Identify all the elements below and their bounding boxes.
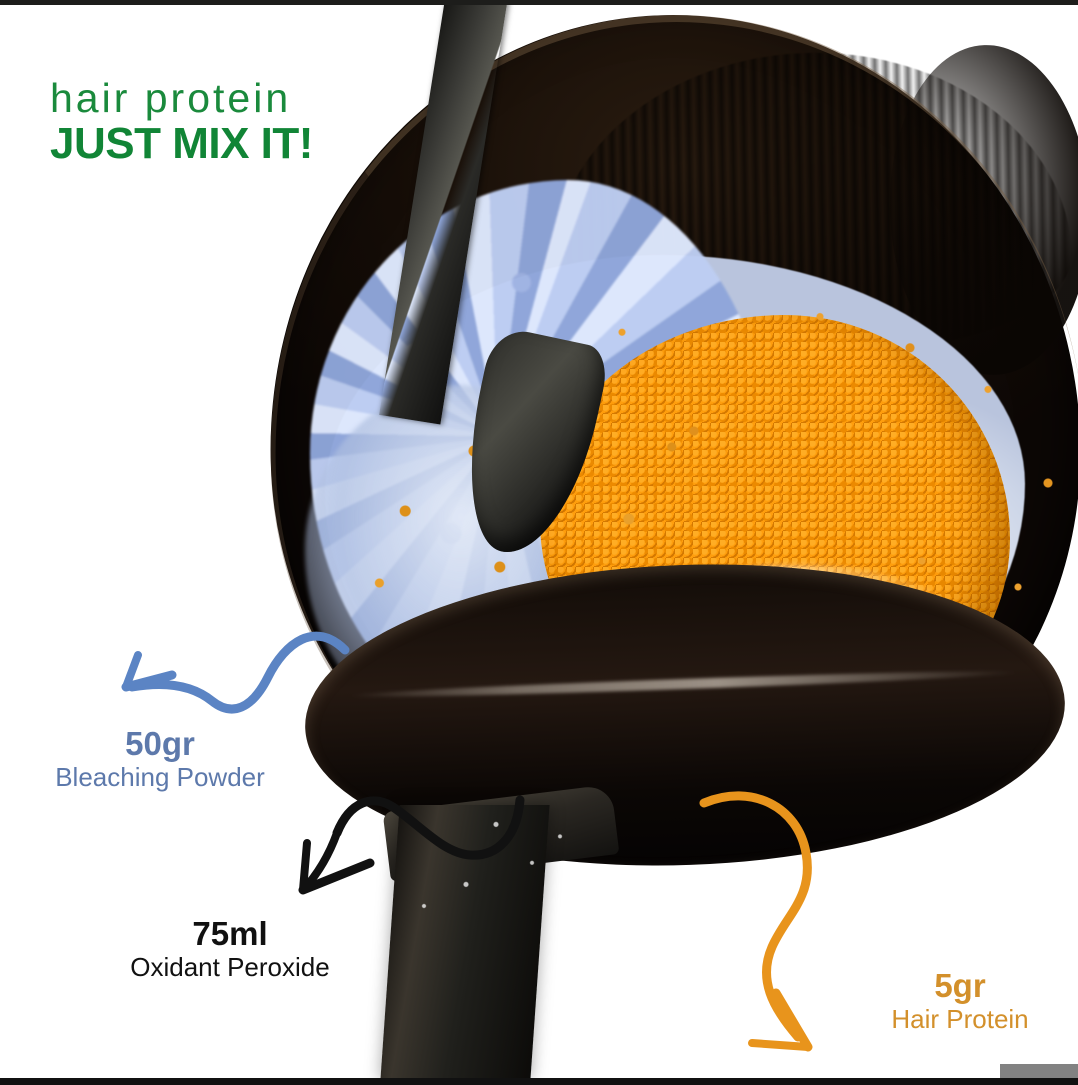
callout-hair-protein: 5gr Hair Protein xyxy=(845,968,1075,1034)
callout-amount: 75ml xyxy=(80,916,380,953)
bottom-frame-bar xyxy=(0,1078,1078,1085)
callout-name: Oxidant Peroxide xyxy=(80,953,380,982)
headline-line-2: JUST MIX IT! xyxy=(50,122,313,166)
bowl-stand-post xyxy=(380,805,549,1078)
callout-name: Hair Protein xyxy=(845,1005,1075,1034)
promo-image-canvas: hair protein JUST MIX IT! 50gr Bleaching… xyxy=(0,0,1078,1085)
callout-name: Bleaching Powder xyxy=(10,763,310,792)
page-title: hair protein JUST MIX IT! xyxy=(50,78,313,166)
bottom-right-gray-tab xyxy=(1000,1064,1078,1078)
top-frame-bar xyxy=(0,0,1078,5)
callout-amount: 50gr xyxy=(10,726,310,763)
callout-oxidant-peroxide: 75ml Oxidant Peroxide xyxy=(80,916,380,982)
callout-bleaching-powder: 50gr Bleaching Powder xyxy=(10,726,310,792)
headline-line-1: hair protein xyxy=(50,78,313,119)
callout-amount: 5gr xyxy=(845,968,1075,1005)
